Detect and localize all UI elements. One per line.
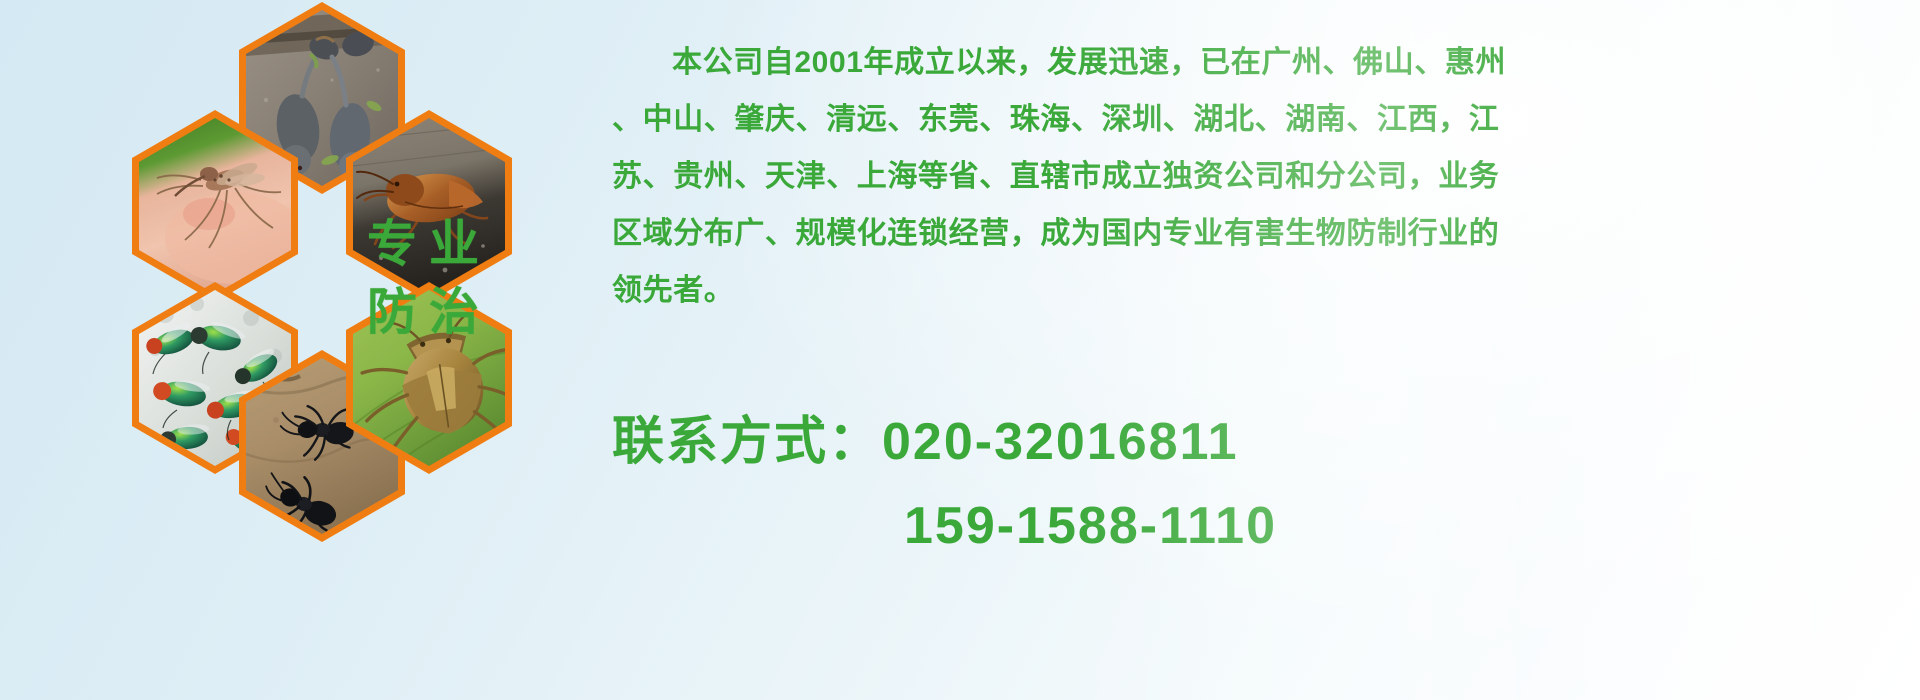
contact-phone-primary[interactable]: 联系方式：020-32016811 [612, 400, 1912, 484]
copy-line-2: 、中山、肇庆、清远、东莞、珠海、深圳、湖北、湖南、江西，江 [612, 91, 1900, 148]
copy-line-1: 本公司自2001年成立以来，发展迅速，已在广州、佛山、惠州 [612, 34, 1900, 91]
honeycomb-slogan: 专业 防治 [337, 178, 509, 378]
copy-line-3: 苏、贵州、天津、上海等省、直辖市成立独资公司和分公司，业务 [612, 148, 1900, 205]
copy-line-5: 领先者。 [612, 262, 1900, 319]
company-description: 本公司自2001年成立以来，发展迅速，已在广州、佛山、惠州 、中山、肇庆、清远、… [612, 34, 1900, 319]
slogan-line-1: 专业 [355, 219, 491, 269]
contact-phone-secondary[interactable]: 159-1588-1110 [612, 484, 1912, 568]
contact-block: 联系方式：020-32016811 159-1588-1110 [612, 400, 1912, 568]
promo-banner: 专业 防治 本公司自2001年成立以来，发展迅速，已在广州、佛山、惠州 、中山、… [0, 0, 1920, 700]
honeycomb-gallery: 专业 防治 [86, 0, 586, 572]
slogan-line-2: 防治 [355, 287, 491, 337]
copy-line-4: 区域分布广、规模化连锁经营，成为国内专业有害生物防制行业的 [612, 205, 1900, 262]
